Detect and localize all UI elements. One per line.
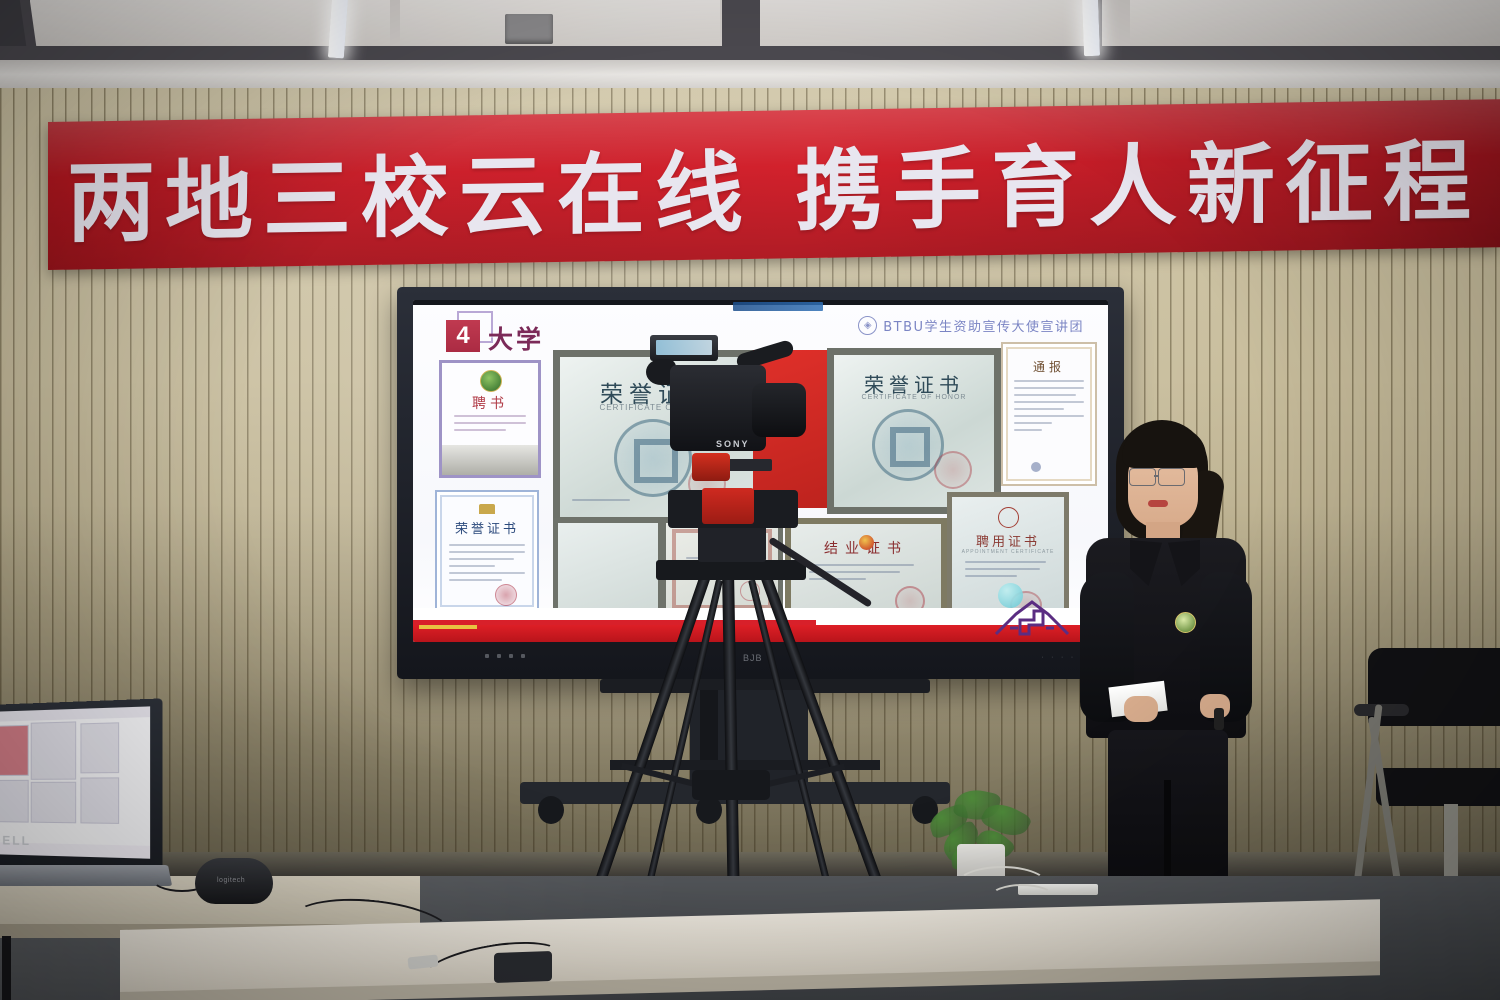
certificate-title: 通报 xyxy=(1003,358,1095,375)
ceiling-light-strip-right xyxy=(1082,0,1100,56)
slide-thumbnail xyxy=(31,782,76,824)
certificate-appointment-letter: 聘书 xyxy=(439,360,541,478)
slide-thumbnail xyxy=(31,721,76,779)
table-leg xyxy=(2,936,11,1000)
presenter-clicker[interactable] xyxy=(1214,708,1224,730)
org-name: BTBU学生资助宣传大使宣讲团 xyxy=(883,316,1084,335)
mouse-brand-label: logitech xyxy=(217,877,245,884)
slide-thumbnail xyxy=(0,725,29,776)
camera-red-grip xyxy=(692,453,730,481)
slide-footer-left-marker xyxy=(419,625,477,629)
chair[interactable] xyxy=(1348,648,1500,913)
certificate-title: 聘书 xyxy=(442,393,538,413)
glasses-bridge xyxy=(1154,475,1159,477)
glasses-lens-right xyxy=(1158,468,1185,486)
laptop[interactable]: DELL xyxy=(0,705,166,895)
presenter xyxy=(1072,412,1287,927)
slide-thumbnail xyxy=(80,722,119,773)
classroom-scene: 两地三校云在线 携手育人新征程 4 大学 ◈ BTBU学生资助宣传大使宣讲团 xyxy=(0,0,1500,1000)
laptop-brand-label: DELL xyxy=(0,833,31,848)
chair-leg xyxy=(1368,717,1403,896)
banner-text-left: 两地三校云在线 xyxy=(67,121,753,259)
banner-text-right: 携手育人新征程 xyxy=(795,110,1481,248)
laptop-lid: DELL xyxy=(0,698,163,879)
power-cable xyxy=(990,884,1054,910)
ceiling-vent xyxy=(505,14,553,44)
mouth xyxy=(1148,500,1168,507)
tripod-quick-release-lock[interactable] xyxy=(702,488,754,524)
video-camera[interactable]: SONY xyxy=(640,335,810,485)
camera-lens-hood xyxy=(752,383,806,437)
red-banner: 两地三校云在线 携手育人新征程 xyxy=(48,99,1500,270)
hand-left xyxy=(1124,696,1158,722)
footer-logo-icon xyxy=(1031,462,1041,472)
slide-thumbnail xyxy=(0,780,29,823)
slide-org-logo: ◈ BTBU学生资助宣传大使宣讲团 xyxy=(858,316,1084,335)
banner-text: 两地三校云在线 携手育人新征程 xyxy=(48,99,1500,270)
tripod-mounting-plate xyxy=(656,560,806,580)
camera-lcd-screen xyxy=(656,340,712,355)
certificate-body-lines xyxy=(454,415,527,436)
slide-camera-toolbar xyxy=(733,302,823,311)
slide-section-number: 4 xyxy=(446,320,480,352)
org-logo-icon: ◈ xyxy=(858,316,877,335)
slide-knot-ornament-icon xyxy=(986,598,1078,638)
camera-brand-label: SONY xyxy=(716,439,750,449)
camera-lcd-panel[interactable] xyxy=(650,335,718,361)
certificate-subtitle: CERTIFICATE OF HONOR xyxy=(834,394,994,401)
laptop-keyboard-base[interactable] xyxy=(0,865,172,886)
adapter-block xyxy=(494,951,552,983)
logo-icon xyxy=(998,507,1019,528)
seal-icon xyxy=(480,370,502,392)
lapel-badge xyxy=(1175,612,1196,633)
banner-text-gap xyxy=(753,184,795,185)
computer-mouse[interactable]: logitech xyxy=(195,858,273,904)
slide-section-title: 大学 xyxy=(488,320,544,356)
tripod-spreader-hub xyxy=(692,770,770,800)
hair-fringe xyxy=(1122,428,1206,468)
glasses-lens-left xyxy=(1129,468,1156,486)
chair-seat xyxy=(1376,768,1500,806)
slide-thumbnail xyxy=(80,777,119,824)
